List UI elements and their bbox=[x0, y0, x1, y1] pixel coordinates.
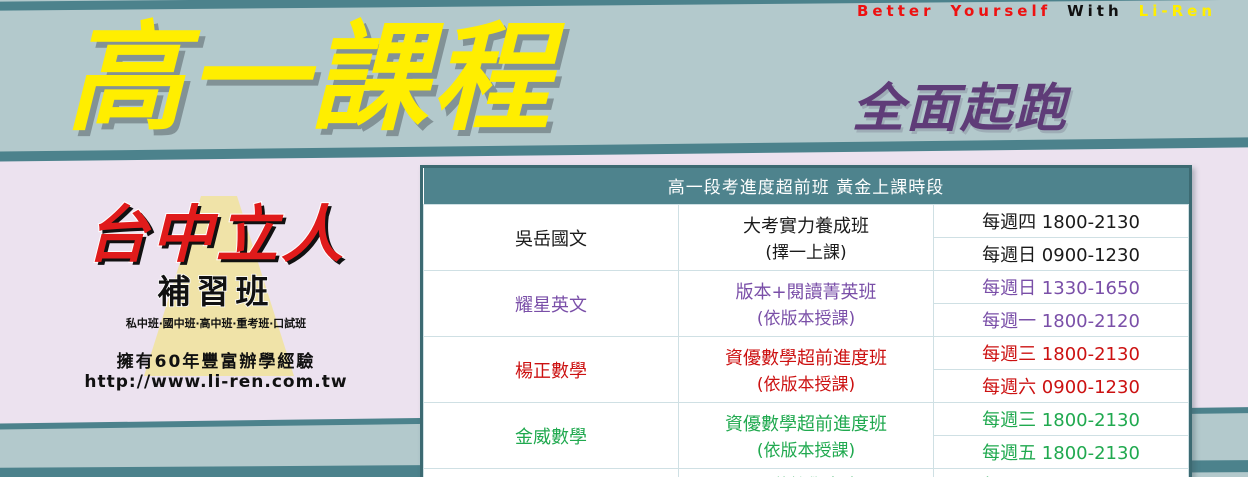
logo-experience: 擁有60年豐富辦學經驗 bbox=[36, 347, 396, 372]
table-row: 耀星英文版本+閱讀菁英班(依版本授課)每週日 1330-1650 bbox=[424, 271, 1189, 304]
page-title: 高一課程 bbox=[66, 8, 554, 147]
cell-teacher bbox=[424, 469, 679, 477]
cell-teacher: 耀星英文 bbox=[424, 271, 679, 337]
cell-time-slot: 每週一 1800-2120 bbox=[934, 304, 1189, 337]
cell-teacher: 吳岳國文 bbox=[424, 205, 679, 271]
table-header-row: 高一段考進度超前班 黃金上課時段 bbox=[424, 168, 1189, 205]
page-subtitle: 全面起跑 bbox=[852, 66, 1068, 141]
schedule-table-head: 高一段考進度超前班 黃金上課時段 bbox=[424, 168, 1189, 205]
cell-course-note: (擇一上課) bbox=[681, 238, 931, 263]
cell-time-slot: 每週六 0900-1230 bbox=[934, 370, 1189, 403]
cell-time-slot: 每週日 0900-1230 bbox=[934, 238, 1189, 271]
schedule-table-title: 高一段考進度超前班 黃金上課時段 bbox=[424, 168, 1189, 205]
tagline-word-with: With bbox=[1067, 2, 1123, 20]
logo-website-url[interactable]: http://www.li-ren.com.tw bbox=[36, 372, 396, 392]
cell-time-slot: 每週三 1800-2130 bbox=[934, 337, 1189, 370]
schedule-table-container: 高一段考進度超前班 黃金上課時段 吳岳國文大考實力養成班(擇一上課)每週四 18… bbox=[420, 165, 1192, 477]
logo-class-tags: 私中班‧國中班‧高中班‧重考班‧口試班 bbox=[36, 315, 396, 331]
cell-teacher: 金威數學 bbox=[424, 403, 679, 469]
cell-course-note: (依版本授課) bbox=[681, 436, 931, 461]
schedule-table: 高一段考進度超前班 黃金上課時段 吳岳國文大考實力養成班(擇一上課)每週四 18… bbox=[423, 168, 1189, 477]
cell-course-note: (依版本授課) bbox=[681, 370, 931, 395]
logo-subname: 補習班 bbox=[36, 265, 396, 313]
cell-course: 版本+閱讀菁英班(依版本授課) bbox=[679, 271, 934, 337]
table-row: 楊正數學資優數學超前進度班(依版本授課)每週三 1800-2130 bbox=[424, 337, 1189, 370]
cell-course: 明道數學專班 bbox=[679, 469, 934, 477]
cell-course-note: (依版本授課) bbox=[681, 304, 931, 329]
tagline-word-better: Better bbox=[857, 2, 935, 20]
cell-time-slot: 每週三 1815-2130 bbox=[934, 469, 1189, 477]
poster-root: BetterYourselfWithLi-Ren 高一課程 全面起跑 台中立人 … bbox=[0, 0, 1248, 477]
cell-time-slot: 每週五 1800-2130 bbox=[934, 436, 1189, 469]
tagline-word-yourself: Yourself bbox=[950, 2, 1051, 20]
cell-teacher: 楊正數學 bbox=[424, 337, 679, 403]
brand-logo-block: 台中立人 補習班 私中班‧國中班‧高中班‧重考班‧口試班 擁有60年豐富辦學經驗… bbox=[36, 200, 396, 392]
cell-course: 大考實力養成班(擇一上課) bbox=[679, 205, 934, 271]
table-row: 吳岳國文大考實力養成班(擇一上課)每週四 1800-2130 bbox=[424, 205, 1189, 238]
cell-course: 資優數學超前進度班(依版本授課) bbox=[679, 337, 934, 403]
table-row: 明道數學專班每週三 1815-2130 bbox=[424, 469, 1189, 477]
schedule-table-body: 吳岳國文大考實力養成班(擇一上課)每週四 1800-2130每週日 0900-1… bbox=[424, 205, 1189, 477]
tagline: BetterYourselfWithLi-Ren bbox=[857, 2, 1232, 20]
table-row: 金威數學資優數學超前進度班(依版本授課)每週三 1800-2130 bbox=[424, 403, 1189, 436]
tagline-word-brand: Li-Ren bbox=[1139, 2, 1216, 20]
cell-course: 資優數學超前進度班(依版本授課) bbox=[679, 403, 934, 469]
logo-name: 台中立人 bbox=[36, 200, 396, 269]
cell-time-slot: 每週四 1800-2130 bbox=[934, 205, 1189, 238]
cell-time-slot: 每週日 1330-1650 bbox=[934, 271, 1189, 304]
cell-time-slot: 每週三 1800-2130 bbox=[934, 403, 1189, 436]
